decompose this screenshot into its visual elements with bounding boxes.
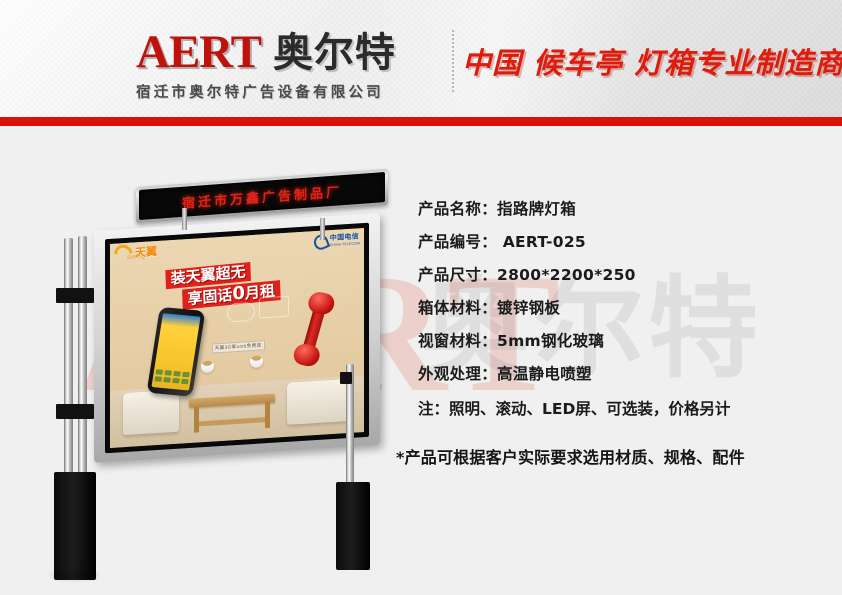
spec-row: 外观处理：高温静电喷塑: [418, 358, 828, 391]
brand-logo: AERT 奥尔特 宿迁市奥尔特广告设备有限公司: [136, 26, 446, 98]
spec-label: 产品编号：: [418, 233, 497, 251]
base-block-left: [54, 472, 96, 580]
logo-latin-text: AERT: [136, 30, 261, 74]
spec-row: 产品编号： AERT-025: [418, 226, 828, 259]
led-sign-stem-right: [320, 218, 325, 240]
table-leg-right: [265, 402, 270, 428]
spec-label: 产品名称：: [418, 200, 497, 218]
header-red-bar: [0, 117, 842, 126]
lightbox-cabinet: 天翼 surfing 中国电信CHINA TELECOM 装天翼超无 享固话0月…: [94, 213, 380, 463]
table-leg-left: [194, 406, 199, 432]
spec-row: 视窗材料：5mm钢化玻璃: [418, 325, 828, 358]
header-divider: [452, 30, 454, 92]
product-illustration: 宿迁市万鑫广告制品厂 天翼 surfing 中国电信CHINA TELECO: [30, 160, 400, 570]
spec-value: 镀锌钢板: [497, 299, 560, 317]
poster-sofa-right: [287, 379, 349, 425]
page-header: AERT 奥尔特 宿迁市奥尔特广告设备有限公司 中国 候车亭 灯箱专业制造商: [0, 0, 842, 117]
base-shadow: [52, 572, 98, 579]
spec-row: 箱体材料：镀锌钢板: [418, 292, 828, 325]
tianyi-sublabel: surfing: [127, 254, 145, 261]
post-band-lower-left: [56, 404, 94, 419]
poster-sketch-graphics: [227, 294, 289, 332]
spec-value: 高温静电喷塑: [497, 365, 592, 383]
poster-sofa-left: [123, 389, 179, 435]
smartphone-app-icons: [155, 370, 190, 385]
table-shelf: [196, 417, 267, 426]
post-band-upper-left: [56, 288, 94, 303]
product-spec-page: AERT 奥尔特 宿迁市奥尔特广告设备有限公司 中国 候车亭 灯箱专业制造商 A…: [0, 0, 842, 595]
support-post-left-b: [78, 236, 87, 486]
spec-label: 外观处理：: [418, 365, 497, 383]
spec-note: 注：照明、滚动、LED屏、可选装，价格另计: [418, 397, 828, 419]
advertising-poster: 天翼 surfing 中国电信CHINA TELECOM 装天翼超无 享固话0月…: [110, 228, 364, 448]
led-screen: 宿迁市万鑫广告制品厂: [139, 172, 385, 220]
led-sign-stem-left: [182, 208, 187, 230]
logo-row: AERT 奥尔特: [136, 26, 446, 74]
base-block-right: [336, 482, 370, 570]
spec-value: 5mm钢化玻璃: [497, 332, 604, 350]
spec-value: 指路牌灯箱: [497, 200, 576, 218]
header-tagline: 中国 候车亭 灯箱专业制造商: [462, 40, 842, 82]
spec-row: 产品尺寸：2800*2200*250: [418, 259, 828, 292]
lightbox-frame: 天翼 surfing 中国电信CHINA TELECOM 装天翼超无 享固话0月…: [105, 223, 369, 454]
support-post-left-a: [64, 238, 73, 486]
spec-label: 产品尺寸：: [418, 266, 497, 284]
sketch-cloud-icon: [227, 302, 255, 323]
spec-row: 产品名称：指路牌灯箱: [418, 193, 828, 226]
spec-value: AERT-025: [497, 233, 586, 251]
spec-footnote: *产品可根据客户实际要求选用材质、规格、配件: [396, 444, 745, 468]
china-telecom-label: 中国电信CHINA TELECOM: [330, 233, 360, 249]
logo-chinese-text: 奥尔特: [273, 32, 396, 74]
post-band-right: [340, 372, 352, 384]
company-name: 宿迁市奥尔特广告设备有限公司: [136, 81, 446, 102]
handset-earpiece: [306, 290, 337, 316]
sketch-card-icon: [259, 296, 289, 319]
led-sign-text: 宿迁市万鑫广告制品厂: [182, 181, 342, 212]
smartphone-screen: [152, 313, 201, 390]
specification-list: 产品名称：指路牌灯箱 产品编号： AERT-025 产品尺寸：2800*2200…: [418, 193, 828, 419]
poster-coffee-table: [189, 393, 275, 432]
spec-value: 2800*2200*250: [497, 266, 636, 284]
spec-label: 视窗材料：: [418, 332, 497, 350]
spec-label: 箱体材料：: [418, 299, 497, 317]
